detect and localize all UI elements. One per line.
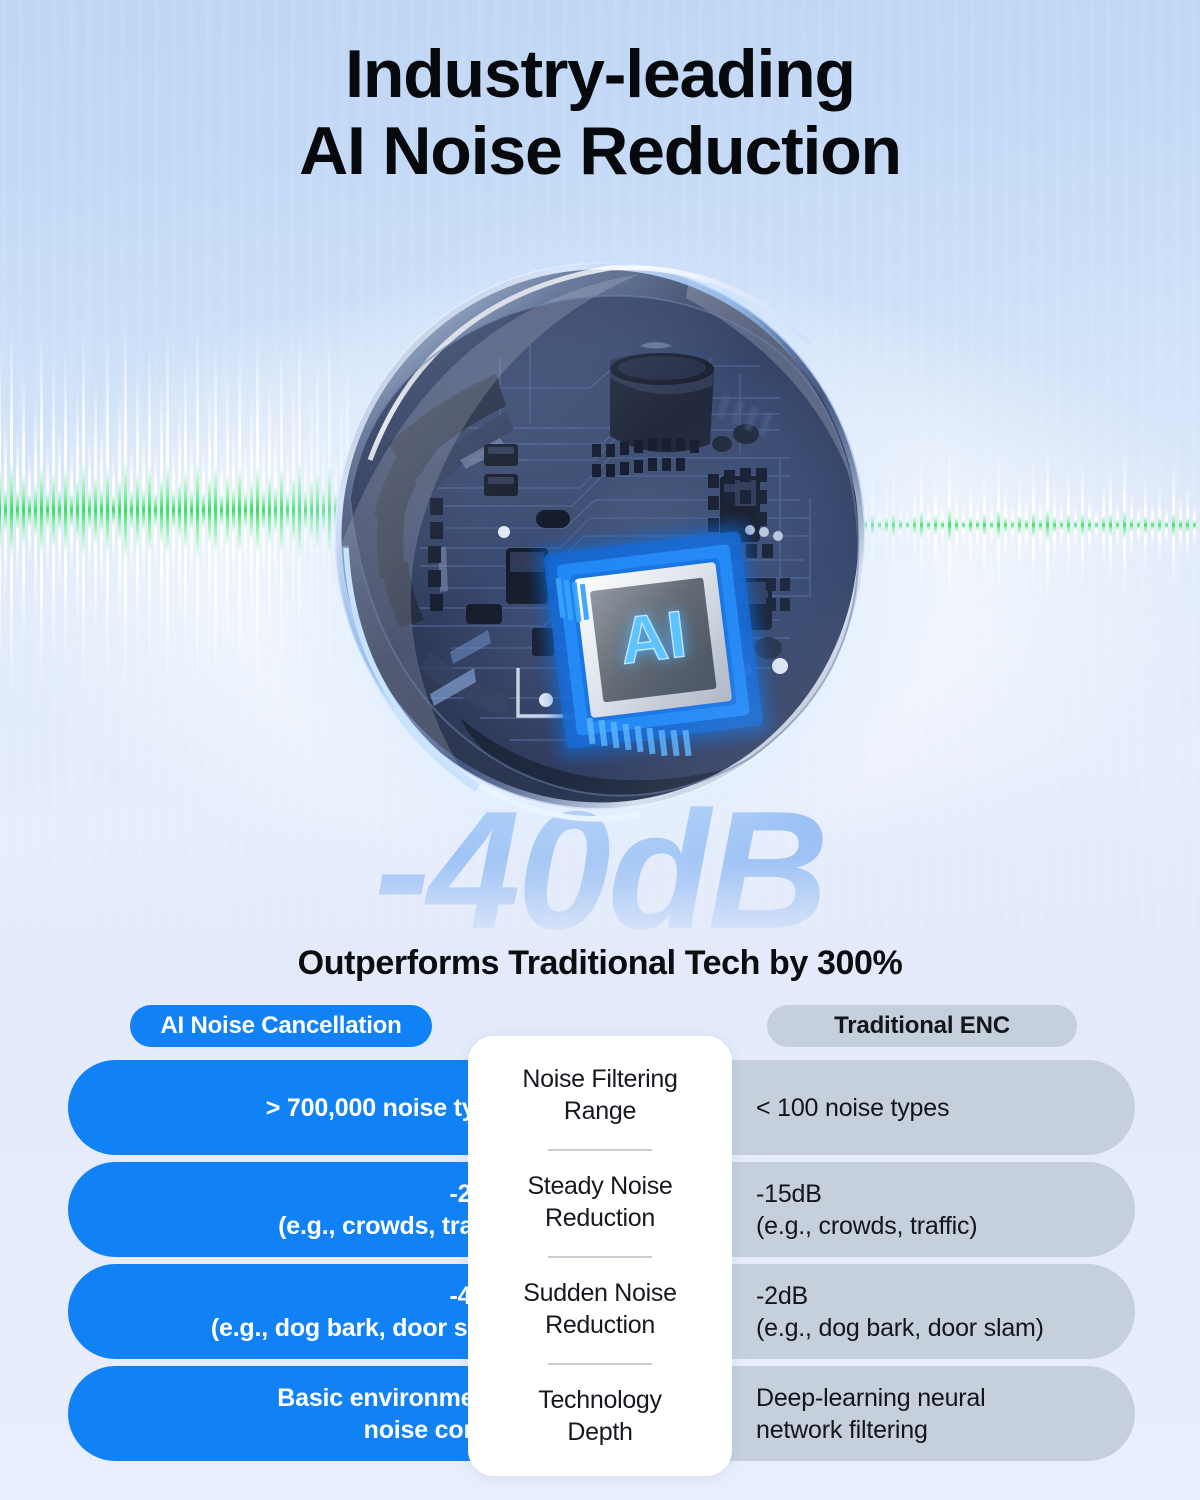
metric-label-line-2: Depth [538, 1417, 661, 1449]
product-image: AI AI AI [310, 248, 890, 836]
metric-label: Noise Filtering Range [468, 1042, 732, 1149]
metric-label: Sudden Noise Reduction [468, 1256, 732, 1363]
column-header-ai: AI Noise Cancellation [130, 1005, 432, 1047]
comparison-title: Outperforms Traditional Tech by 300% [0, 944, 1200, 983]
metric-label: Steady Noise Reduction [468, 1149, 732, 1256]
metric-label-line-1: Steady Noise [527, 1171, 672, 1203]
cell-traditional-line-1: -2dB [756, 1280, 1044, 1312]
page-title: Industry-leading AI Noise Reduction [0, 36, 1200, 190]
cell-traditional-line-2: network filtering [756, 1414, 985, 1446]
headline-line-1: Industry-leading [345, 36, 855, 112]
cell-traditional-line-2: (e.g., dog bark, door slam) [756, 1312, 1044, 1344]
hero-section: -40dB [0, 0, 1200, 930]
metric-label: Technology Depth [468, 1363, 732, 1470]
metric-label-line-2: Reduction [523, 1310, 676, 1342]
column-header-ai-label: AI Noise Cancellation [160, 1012, 401, 1040]
cell-traditional-line-1: -15dB [756, 1178, 977, 1210]
metric-labels-card: Noise Filtering Range Steady Noise Reduc… [468, 1036, 732, 1476]
column-header-traditional-label: Traditional ENC [834, 1012, 1010, 1040]
cell-traditional-line-1: Deep-learning neural [756, 1382, 985, 1414]
cell-traditional-line-2: (e.g., crowds, traffic) [756, 1210, 977, 1242]
earbud-charging-case-circuit-board-icon: AI AI AI [310, 248, 890, 836]
metric-label-line-1: Technology [538, 1385, 661, 1417]
headline-line-2: AI Noise Reduction [0, 113, 1200, 190]
metric-label-line-1: Sudden Noise [523, 1278, 676, 1310]
metric-label-line-2: Reduction [527, 1203, 672, 1235]
column-header-traditional: Traditional ENC [767, 1005, 1077, 1047]
metric-label-line-1: Noise Filtering [522, 1064, 677, 1096]
metric-label-line-2: Range [522, 1096, 677, 1128]
cell-traditional-line-1: < 100 noise types [756, 1092, 949, 1124]
